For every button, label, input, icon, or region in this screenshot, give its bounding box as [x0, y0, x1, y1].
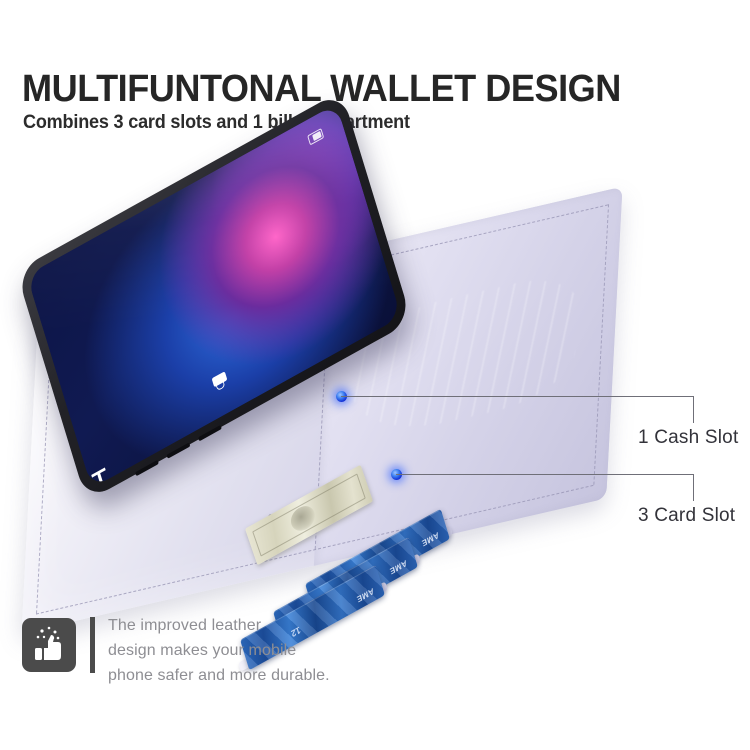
callout-line-cash-vertical [693, 396, 694, 423]
card-label: AME [388, 558, 408, 576]
callout-label-cash-slot: 1 Cash Slot [638, 427, 738, 449]
thumbs-up-icon [22, 618, 76, 672]
card-label: AME [420, 530, 440, 548]
footer-note-text: The improved leather design makes your m… [108, 613, 330, 688]
callout-line-card-horizontal [396, 474, 694, 475]
footer-note-line: phone safer and more durable. [108, 663, 330, 688]
note-divider-bar [90, 617, 95, 673]
footer-note-line: design makes your mobile [108, 638, 330, 663]
card-label: AME [355, 586, 375, 604]
footer-note-line: The improved leather [108, 613, 330, 638]
callout-line-cash-horizontal [341, 396, 694, 397]
banknote-portrait [288, 502, 318, 536]
callout-line-card-vertical [693, 474, 694, 501]
product-banner: MULTIFUNTONAL WALLET DESIGN Combines 3 c… [0, 0, 750, 750]
callout-label-card-slot: 3 Card Slot [638, 505, 735, 527]
